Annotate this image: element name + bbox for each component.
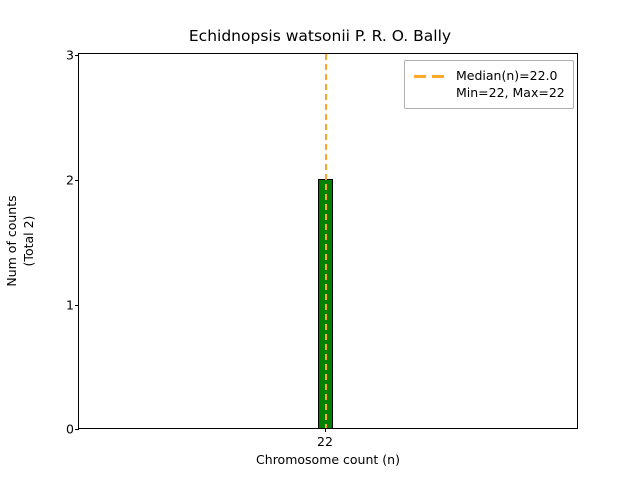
legend: Median(n)=22.0 Min=22, Max=22 bbox=[404, 60, 574, 109]
legend-entry-median: Median(n)=22.0 bbox=[413, 67, 565, 84]
y-tick-label: 3 bbox=[66, 48, 74, 63]
plot-area: 0 1 2 3 22 bbox=[78, 53, 578, 429]
legend-entry-range: Min=22, Max=22 bbox=[413, 84, 565, 101]
plot-inner-clip bbox=[79, 54, 577, 428]
y-tick-label: 2 bbox=[66, 173, 74, 188]
y-axis-label-line1: Num of counts bbox=[4, 195, 19, 286]
median-line bbox=[325, 54, 327, 428]
legend-label-range: Min=22, Max=22 bbox=[456, 85, 565, 100]
figure-canvas: Echidnopsis watsonii P. R. O. Bally Num … bbox=[0, 0, 640, 480]
x-tick-mark bbox=[325, 428, 326, 432]
x-axis-label: Chromosome count (n) bbox=[78, 452, 578, 467]
dashed-line-icon bbox=[413, 70, 447, 82]
y-tick-mark bbox=[75, 429, 79, 430]
y-tick-label: 1 bbox=[66, 297, 74, 312]
chart-title: Echidnopsis watsonii P. R. O. Bally bbox=[0, 27, 640, 45]
y-tick-label: 0 bbox=[66, 422, 74, 437]
y-axis-label-line2: (Total 2) bbox=[20, 195, 37, 286]
x-tick-label: 22 bbox=[317, 434, 333, 449]
y-axis-label: Num of counts (Total 2) bbox=[3, 195, 37, 286]
y-axis-label-container: Num of counts (Total 2) bbox=[0, 53, 40, 429]
legend-label-median: Median(n)=22.0 bbox=[456, 68, 557, 83]
